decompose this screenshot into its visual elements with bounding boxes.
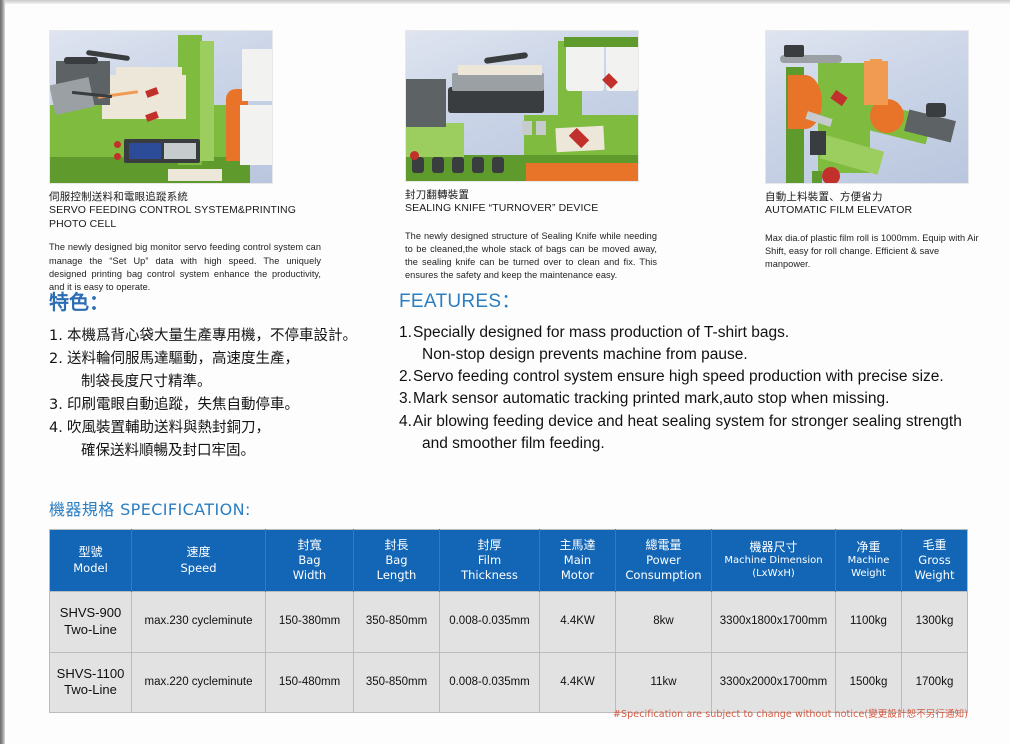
feature-number: 2. [399,366,413,388]
features-heading-en: FEATURES： [399,286,999,313]
header-zh: 封厚 [442,538,537,553]
features-list-en: 1. Specially designed for mass productio… [399,322,999,455]
header-en-2: (LxWxH) [714,568,833,581]
model-name: SHVS-1100 [52,666,129,683]
column-header-gross-weight: 毛重 Gross Weight [902,530,968,592]
feature-line-1: Specially designed for mass production o… [413,324,789,341]
feature-item: 4. 吹風裝置輔助送料與熱封銅刀， 確保送料順暢及封口牢固。 [49,417,389,463]
features-heading-zh: 特色： [49,286,389,315]
cell-main-motor: 4.4KW [540,591,616,652]
features-chinese: 特色： 1. 本機爲背心袋大量生產專用機，不停車設計。 2. 送料輪伺服馬達驅動… [49,286,389,462]
panel-body-text: The newly designed structure of Sealing … [405,230,657,282]
header-en-2: Width [268,568,351,583]
header-en-1: Gross [904,553,965,568]
feature-panel-servo-feeding: 伺服控制送料和電眼追蹤系統 SERVO FEEDING CONTROL SYST… [49,30,321,294]
panel-caption-en: AUTOMATIC FILM ELEVATOR [765,204,980,218]
cell-bag-length: 350-850mm [354,591,440,652]
sealing-knife-turnover-photo [405,30,639,182]
column-header-power-consumption: 總電量 Power Consumption [616,530,712,592]
header-en-1: Speed [134,561,263,576]
feature-item: 3. Mark sensor automatic tracking printe… [399,388,999,410]
automatic-film-elevator-photo [765,30,969,184]
header-en-1: Film [442,553,537,568]
feature-line-1: Air blowing feeding device and heat seal… [413,413,962,430]
header-en-1: Bag [268,553,351,568]
cell-machine-dimension: 3300x1800x1700mm [712,591,836,652]
header-en-2: Thickness [442,568,537,583]
feature-item: 2. 送料輪伺服馬達驅動，高速度生產， 制袋長度尺寸精準。 [49,348,389,394]
model-variant: Two-Line [52,682,129,699]
feature-line-2: Non-stop design prevents machine from pa… [413,344,999,366]
model-name: SHVS-900 [52,605,129,622]
cell-machine-weight: 1100kg [836,591,902,652]
panel-caption-zh: 自動上料裝置、方便省力 [765,190,980,204]
feature-text: Specially designed for mass production o… [413,322,999,366]
panel-body-text: Max dia.of plastic film roll is 1000mm. … [765,232,980,271]
feature-line-2: 制袋長度尺寸精準。 [67,371,389,394]
feature-line-1: 印刷電眼自動追蹤，失焦自動停車。 [67,397,299,413]
cell-film-thickness: 0.008-0.035mm [440,652,540,713]
column-header-machine-dimension: 機器尺寸 Machine Dimension (LxWxH) [712,530,836,592]
feature-number: 3. [399,388,413,410]
header-en-2: Consumption [618,568,709,583]
header-en-1: Bag [356,553,437,568]
header-zh: 型號 [52,545,129,560]
header-en-1: Power [618,553,709,568]
feature-number: 4. [49,417,67,440]
photo-row: 伺服控制送料和電眼追蹤系統 SERVO FEEDING CONTROL SYST… [5,4,1010,274]
cell-power-consumption: 8kw [616,591,712,652]
feature-item: 2. Servo feeding control system ensure h… [399,366,999,388]
column-header-speed: 速度 Speed [132,530,266,592]
feature-line-2: and smoother film feeding. [413,433,999,455]
header-en-1: Main [542,553,613,568]
header-zh: 主馬達 [542,538,613,553]
header-zh: 封長 [356,538,437,553]
cell-gross-weight: 1700kg [902,652,968,713]
header-en-2: Motor [542,568,613,583]
feature-item: 3. 印刷電眼自動追蹤，失焦自動停車。 [49,394,389,417]
feature-panel-film-elevator: 自動上料裝置、方便省力 AUTOMATIC FILM ELEVATOR Max … [765,30,980,271]
cell-machine-dimension: 3300x2000x1700mm [712,652,836,713]
cell-machine-weight: 1500kg [836,652,902,713]
cell-gross-weight: 1300kg [902,591,968,652]
feature-text: 印刷電眼自動追蹤，失焦自動停車。 [67,394,389,417]
feature-number: 4. [399,411,413,433]
header-zh: 速度 [134,545,263,560]
header-zh: 封寬 [268,538,351,553]
cell-model: SHVS-900 Two-Line [50,591,132,652]
panel-caption-en: SERVO FEEDING CONTROL SYSTEM&PRINTING PH… [49,204,321,231]
header-en-1: Machine Dimension [714,555,833,568]
column-header-main-motor: 主馬達 Main Motor [540,530,616,592]
feature-text: Servo feeding control system ensure high… [413,366,999,388]
feature-text: Air blowing feeding device and heat seal… [413,411,999,455]
column-header-bag-width: 封寬 Bag Width [266,530,354,592]
column-header-model: 型號 Model [50,530,132,592]
feature-item: 1. 本機爲背心袋大量生產專用機，不停車設計。 [49,325,389,348]
feature-item: 1. Specially designed for mass productio… [399,322,999,366]
feature-line-1: Mark sensor automatic tracking printed m… [413,390,889,407]
specification-section: 機器規格 SPECIFICATION: 型號 Model [49,496,969,713]
column-header-bag-length: 封長 Bag Length [354,530,440,592]
header-zh: 净重 [838,540,899,555]
feature-number: 2. [49,348,67,371]
specification-footnote: #Specification are subject to change wit… [613,706,968,720]
cell-bag-width: 150-380mm [266,591,354,652]
cell-film-thickness: 0.008-0.035mm [440,591,540,652]
feature-panel-sealing-knife: 封刀翻轉裝置 SEALING KNIFE “TURNOVER” DEVICE T… [405,30,657,282]
header-zh: 毛重 [904,538,965,553]
feature-number: 1. [49,325,67,348]
cell-bag-length: 350-850mm [354,652,440,713]
feature-line-2: 確保送料順暢及封口牢固。 [67,440,389,463]
feature-number: 3. [49,394,67,417]
panel-caption-en: SEALING KNIFE “TURNOVER” DEVICE [405,202,657,216]
header-zh: 總電量 [618,538,709,553]
specification-table: 型號 Model 速度 Speed 封寬 Bag Width 封長 Bag [49,529,968,713]
spec-sheet: 伺服控制送料和電眼追蹤系統 SERVO FEEDING CONTROL SYST… [5,4,1010,744]
feature-text: 本機爲背心袋大量生產專用機，不停車設計。 [67,325,389,348]
model-variant: Two-Line [52,622,129,639]
cell-model: SHVS-1100 Two-Line [50,652,132,713]
header-en-2: Length [356,568,437,583]
feature-text: Mark sensor automatic tracking printed m… [413,388,999,410]
table-header-row: 型號 Model 速度 Speed 封寬 Bag Width 封長 Bag [50,530,968,592]
features-list-zh: 1. 本機爲背心袋大量生產專用機，不停車設計。 2. 送料輪伺服馬達驅動，高速度… [49,325,389,462]
feature-line-1: Servo feeding control system ensure high… [413,368,944,385]
feature-item: 4. Air blowing feeding device and heat s… [399,411,999,455]
cell-bag-width: 150-480mm [266,652,354,713]
specification-title: 機器規格 SPECIFICATION: [49,496,969,520]
column-header-machine-weight: 净重 Machine Weight [836,530,902,592]
feature-text: 送料輪伺服馬達驅動，高速度生產， 制袋長度尺寸精準。 [67,348,389,394]
panel-caption-zh: 伺服控制送料和電眼追蹤系統 [49,190,321,204]
cell-power-consumption: 11kw [616,652,712,713]
features-section: 特色： 1. 本機爲背心袋大量生產專用機，不停車設計。 2. 送料輪伺服馬達驅動… [5,286,1010,486]
table-row: SHVS-900 Two-Line max.230 cycleminute 15… [50,591,968,652]
cell-speed: max.230 cycleminute [132,591,266,652]
feature-line-1: 吹風裝置輔助送料與熱封銅刀， [67,420,270,436]
header-en-2: Weight [904,568,965,583]
feature-text: 吹風裝置輔助送料與熱封銅刀， 確保送料順暢及封口牢固。 [67,417,389,463]
panel-caption-zh: 封刀翻轉裝置 [405,188,657,202]
header-zh: 機器尺寸 [714,540,833,555]
header-en-2: Weight [838,568,899,581]
header-en-1: Model [52,561,129,576]
cell-speed: max.220 cycleminute [132,652,266,713]
header-en-1: Machine [838,555,899,568]
column-header-film-thickness: 封厚 Film Thickness [440,530,540,592]
table-row: SHVS-1100 Two-Line max.220 cycleminute 1… [50,652,968,713]
feature-line-1: 本機爲背心袋大量生產專用機，不停車設計。 [67,328,357,344]
features-english: FEATURES： 1. Specially designed for mass… [399,286,999,455]
feature-line-1: 送料輪伺服馬達驅動，高速度生產， [67,351,299,367]
feature-number: 1. [399,322,413,344]
cell-main-motor: 4.4KW [540,652,616,713]
servo-feeding-control-photo [49,30,273,184]
